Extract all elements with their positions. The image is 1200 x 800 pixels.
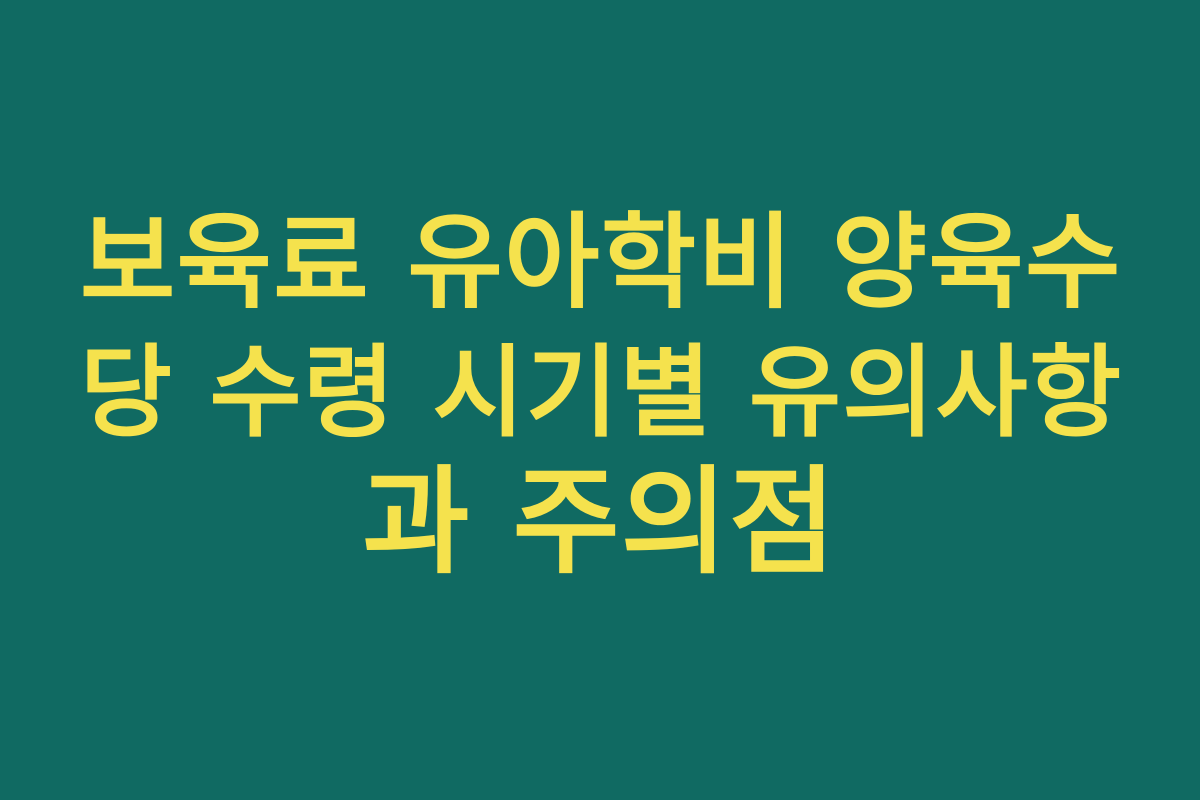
title-line-1: 보육료 유아학비 양육수 <box>80 198 1120 328</box>
thumbnail-card: 보육료 유아학비 양육수 당 수령 시기별 유의사항 과 주의점 <box>0 0 1200 800</box>
page-title: 보육료 유아학비 양육수 당 수령 시기별 유의사항 과 주의점 <box>80 198 1120 588</box>
title-line-2: 당 수령 시기별 유의사항 <box>80 328 1120 458</box>
title-line-3: 과 주의점 <box>80 458 1120 588</box>
